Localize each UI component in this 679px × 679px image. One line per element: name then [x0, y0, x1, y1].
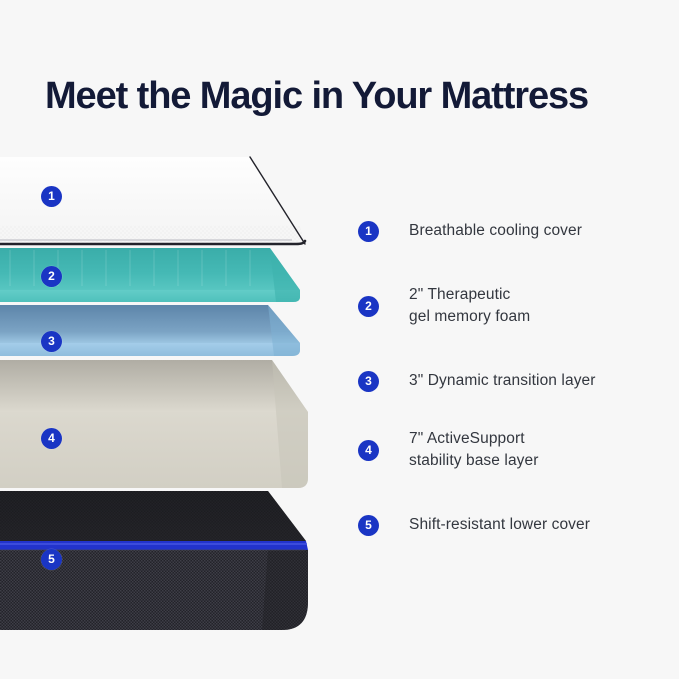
- legend-item-1[interactable]: 1 Breathable cooling cover: [358, 220, 668, 242]
- legend-item-5[interactable]: 5 Shift-resistant lower cover: [358, 514, 668, 536]
- legend-badge-2: 2: [358, 296, 379, 317]
- legend-label-3: 3" Dynamic transition layer: [409, 370, 596, 392]
- legend-badge-4: 4: [358, 440, 379, 461]
- mattress-layer-4-activesupport-base: [0, 360, 308, 488]
- legend-item-4[interactable]: 4 7" ActiveSupport stability base layer: [358, 428, 668, 472]
- mattress-badge-3[interactable]: 3: [41, 331, 62, 352]
- mattress-stack-illustration: 1 2 3 4 5: [0, 140, 340, 640]
- infographic-page: Meet the Magic in Your Mattress: [0, 0, 679, 679]
- legend-label-1: Breathable cooling cover: [409, 220, 582, 242]
- legend-badge-5: 5: [358, 515, 379, 536]
- mattress-badge-1[interactable]: 1: [41, 186, 62, 207]
- legend-item-3[interactable]: 3 3" Dynamic transition layer: [358, 370, 668, 392]
- page-title: Meet the Magic in Your Mattress: [45, 73, 655, 119]
- mattress-badge-2[interactable]: 2: [41, 266, 62, 287]
- legend-badge-1: 1: [358, 221, 379, 242]
- legend-label-5: Shift-resistant lower cover: [409, 514, 590, 536]
- legend-badge-3: 3: [358, 371, 379, 392]
- legend-label-4: 7" ActiveSupport stability base layer: [409, 428, 539, 472]
- legend-label-2: 2" Therapeutic gel memory foam: [409, 284, 530, 328]
- mattress-badge-5[interactable]: 5: [41, 549, 62, 570]
- legend-item-2[interactable]: 2 2" Therapeutic gel memory foam: [358, 284, 668, 328]
- mattress-badge-4[interactable]: 4: [41, 428, 62, 449]
